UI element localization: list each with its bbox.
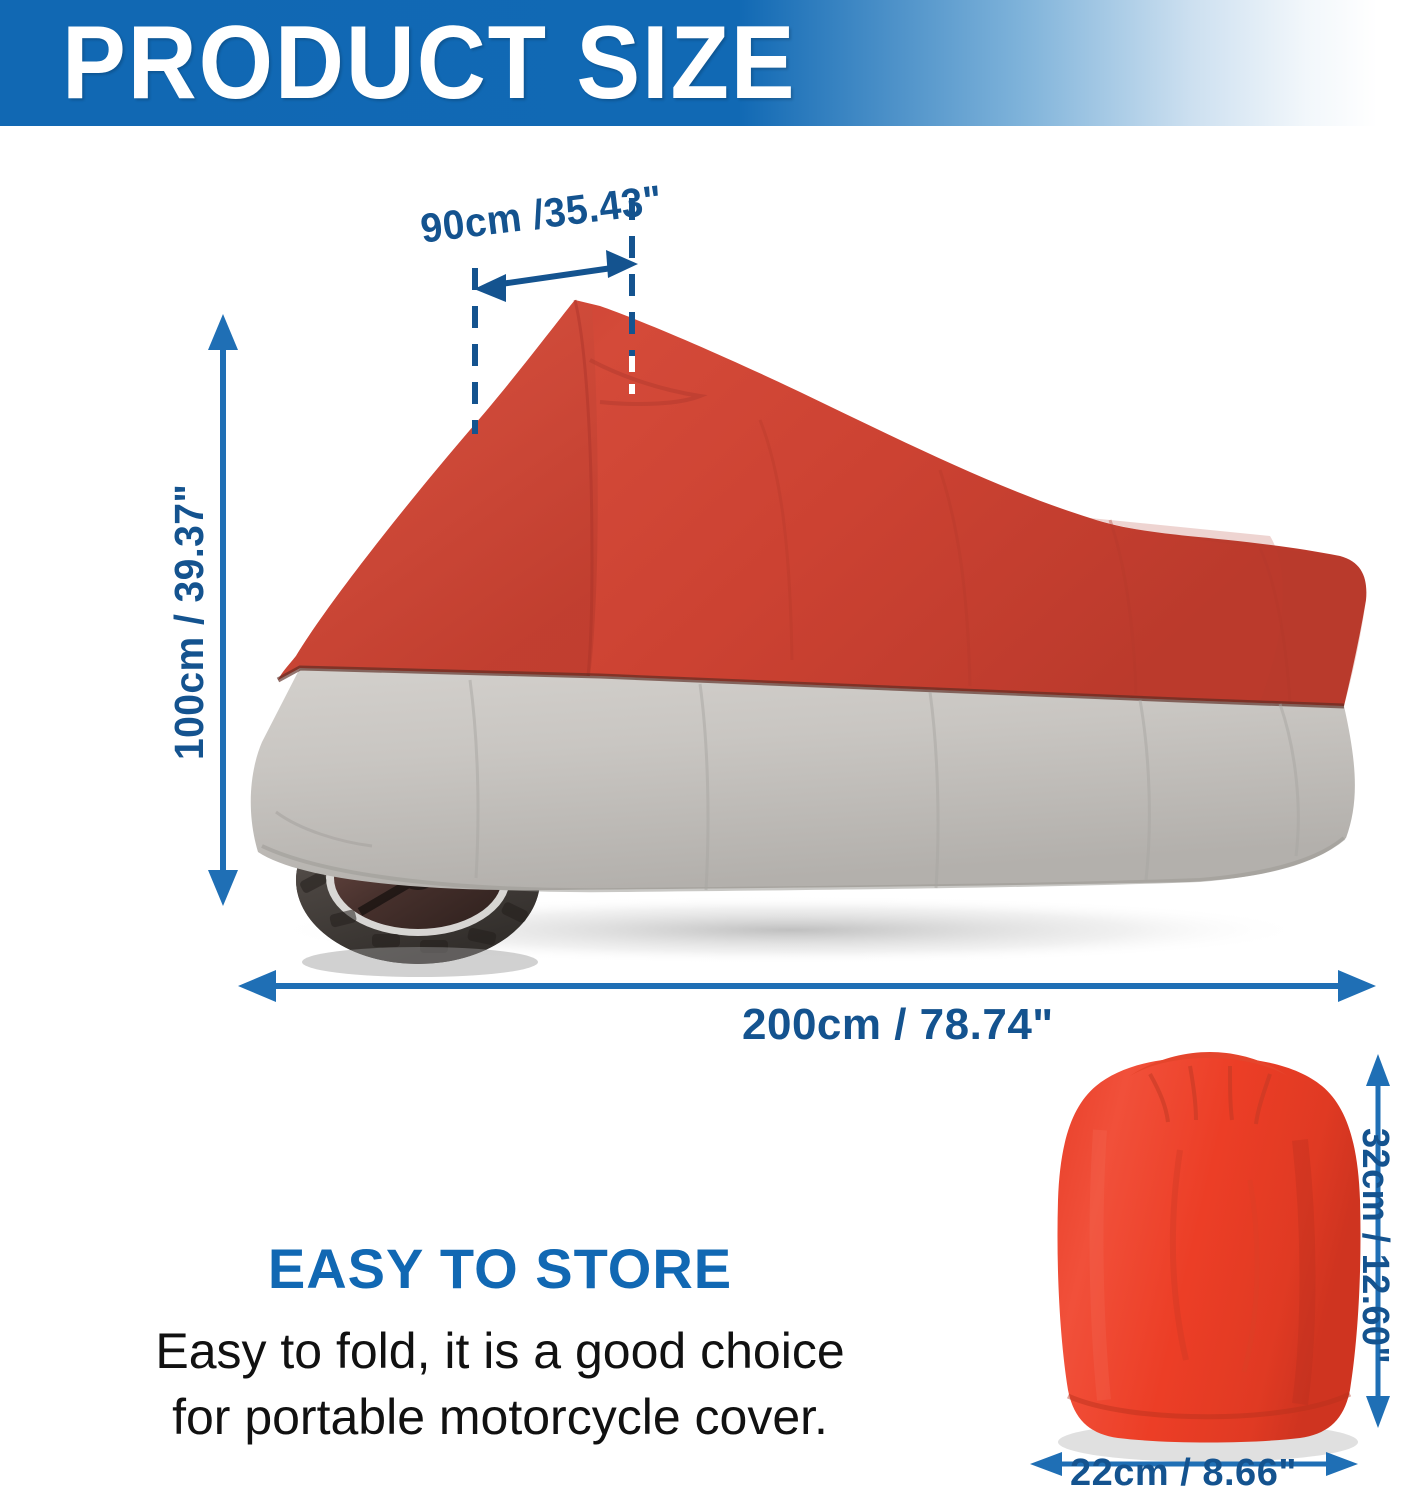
easy-to-store-body-line2: for portable motorcycle cover. xyxy=(0,1384,1000,1450)
bag-height-dimension-label: 32cm / 12.60" xyxy=(1353,1128,1396,1364)
height-dimension-label: 100cm / 39.37" xyxy=(166,484,213,760)
storage-bag xyxy=(1057,1052,1360,1462)
cover-red-front-facet xyxy=(278,300,598,680)
easy-to-store-body: Easy to fold, it is a good choice for po… xyxy=(0,1318,1000,1450)
width-dimension-arrow xyxy=(474,250,638,302)
easy-to-store-heading: EASY TO STORE xyxy=(0,1236,1000,1301)
bag-width-dimension-label: 22cm / 8.66" xyxy=(1070,1452,1297,1495)
easy-to-store-body-line1: Easy to fold, it is a good choice xyxy=(0,1318,1000,1384)
length-dimension-label: 200cm / 78.74" xyxy=(742,1000,1054,1050)
product-size-infographic: PRODUCT SIZE xyxy=(0,0,1420,1500)
